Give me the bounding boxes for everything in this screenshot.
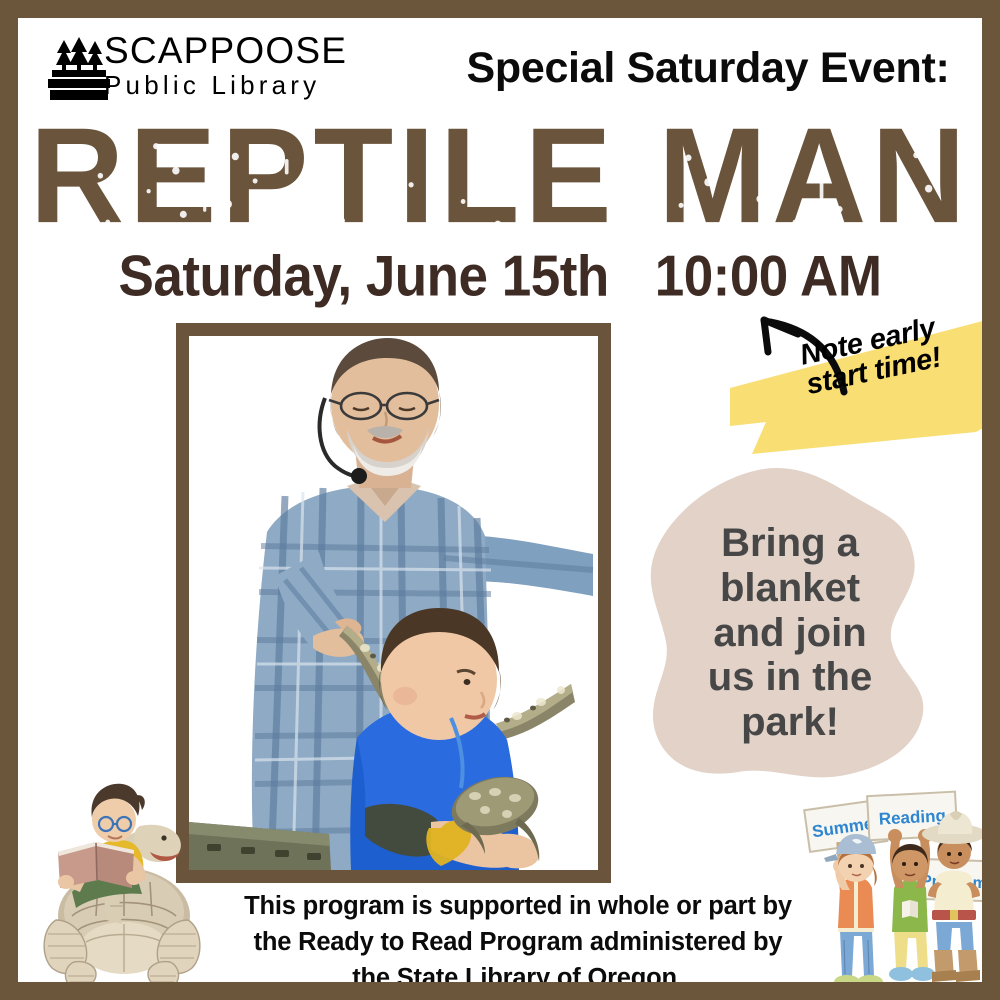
- logo-subtitle: Public Library: [104, 71, 374, 101]
- credit-line-1: This program is supported in whole or pa…: [188, 888, 848, 924]
- bring-blanket-callout: Bring a blanket and join us in the park!: [646, 466, 934, 786]
- event-eyebrow: Special Saturday Event:: [418, 44, 998, 93]
- blob-line-5: park!: [672, 700, 908, 745]
- blanket-text: Bring a blanket and join us in the park!: [672, 521, 908, 745]
- child-reading-on-tortoise-illustration: [38, 770, 206, 992]
- sign-label-reading: Reading: [878, 806, 946, 828]
- credit-line-2: the Ready to Read Program administered b…: [188, 924, 848, 960]
- credit-line-3: the State Library of Oregon.: [188, 960, 848, 996]
- event-date: Saturday, June 15th: [119, 244, 609, 310]
- event-photo-frame: [176, 323, 611, 883]
- blob-line-4: us in the: [672, 655, 908, 700]
- blob-line-2: blanket: [672, 566, 908, 611]
- event-time: 10:00 AM: [655, 244, 882, 310]
- page-title-text: REPTILE MAN: [29, 100, 970, 252]
- page-title: REPTILE MAN: [29, 114, 970, 239]
- page-title-row: REPTILE MAN: [18, 114, 982, 232]
- logo-wordmark: SCAPPOOSE Public Library: [104, 32, 374, 101]
- logo-name: SCAPPOOSE: [104, 32, 374, 69]
- funding-credit: This program is supported in whole or pa…: [188, 888, 848, 997]
- early-start-callout: Note early start time!: [724, 314, 1000, 454]
- event-photo: [189, 336, 598, 870]
- blob-line-1: Bring a: [672, 521, 908, 566]
- schedule-row: Saturday, June 15th 10:00 AM: [18, 246, 982, 307]
- kids-holding-signs-illustration: Summer Reading Program: [800, 790, 992, 998]
- poster-canvas: SCAPPOOSE Public Library Special Saturda…: [0, 0, 1000, 1000]
- blob-line-3: and join: [672, 611, 908, 656]
